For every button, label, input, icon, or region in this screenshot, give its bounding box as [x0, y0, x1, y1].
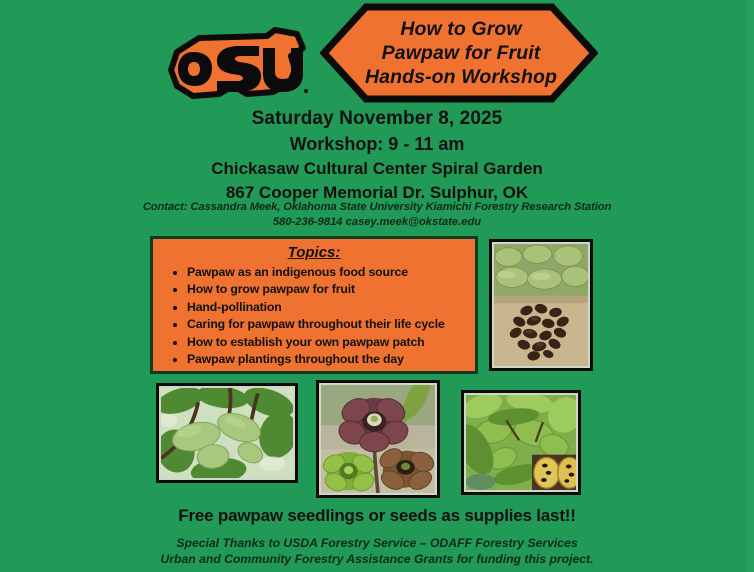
- topics-box: Topics: Pawpaw as an indigenous food sou…: [150, 236, 478, 374]
- topic-item: Hand-pollination: [187, 299, 475, 316]
- event-venue: Chickasaw Cultural Center Spiral Garden: [0, 159, 754, 179]
- topic-item: Caring for pawpaw throughout their life …: [187, 316, 475, 333]
- contact-line-2: 580-236-9814 casey.meek@okstate.edu: [0, 216, 754, 228]
- osu-logo: [163, 22, 313, 110]
- banner-line-1: How to Grow: [400, 18, 521, 41]
- flyer-slide: How to Grow Pawpaw for Fruit Hands-on Wo…: [0, 0, 754, 572]
- event-time: Workshop: 9 - 11 am: [0, 134, 754, 155]
- topics-list: Pawpaw as an indigenous food source How …: [153, 264, 475, 369]
- contact-block: Contact: Cassandra Meek, Oklahoma State …: [0, 201, 754, 228]
- workshop-title-banner: How to Grow Pawpaw for Fruit Hands-on Wo…: [320, 3, 598, 103]
- contact-line-1: Contact: Cassandra Meek, Oklahoma State …: [0, 201, 754, 213]
- topics-title: Topics:: [153, 244, 475, 261]
- free-seedlings-note: Free pawpaw seedlings or seeds as suppli…: [0, 506, 754, 526]
- photo-pawpaw-cut-fruit: [461, 390, 581, 495]
- photo-pawpaw-fruits-and-seeds: [489, 239, 593, 371]
- photo-pawpaw-flowers: [316, 380, 440, 498]
- thanks-line-1: Special Thanks to USDA Forestry Service …: [0, 536, 754, 550]
- banner-line-2: Pawpaw for Fruit: [382, 42, 541, 65]
- event-date: Saturday November 8, 2025: [0, 108, 754, 130]
- acknowledgement-block: Special Thanks to USDA Forestry Service …: [0, 536, 754, 566]
- topic-item: How to grow pawpaw for fruit: [187, 281, 475, 298]
- event-address: 867 Cooper Memorial Dr. Sulphur, OK: [0, 183, 754, 203]
- topic-item: Pawpaw as an indigenous food source: [187, 264, 475, 281]
- thanks-line-2: Urban and Community Forestry Assistance …: [0, 552, 754, 566]
- topic-item: Pawpaw plantings throughout the day: [187, 351, 475, 368]
- banner-line-3: Hands-on Workshop: [365, 66, 557, 89]
- event-details: Saturday November 8, 2025 Workshop: 9 - …: [0, 108, 754, 203]
- flyer-header: How to Grow Pawpaw for Fruit Hands-on Wo…: [0, 0, 754, 112]
- photo-pawpaw-fruit-on-tree: [156, 383, 298, 483]
- topic-item: How to establish your own pawpaw patch: [187, 334, 475, 351]
